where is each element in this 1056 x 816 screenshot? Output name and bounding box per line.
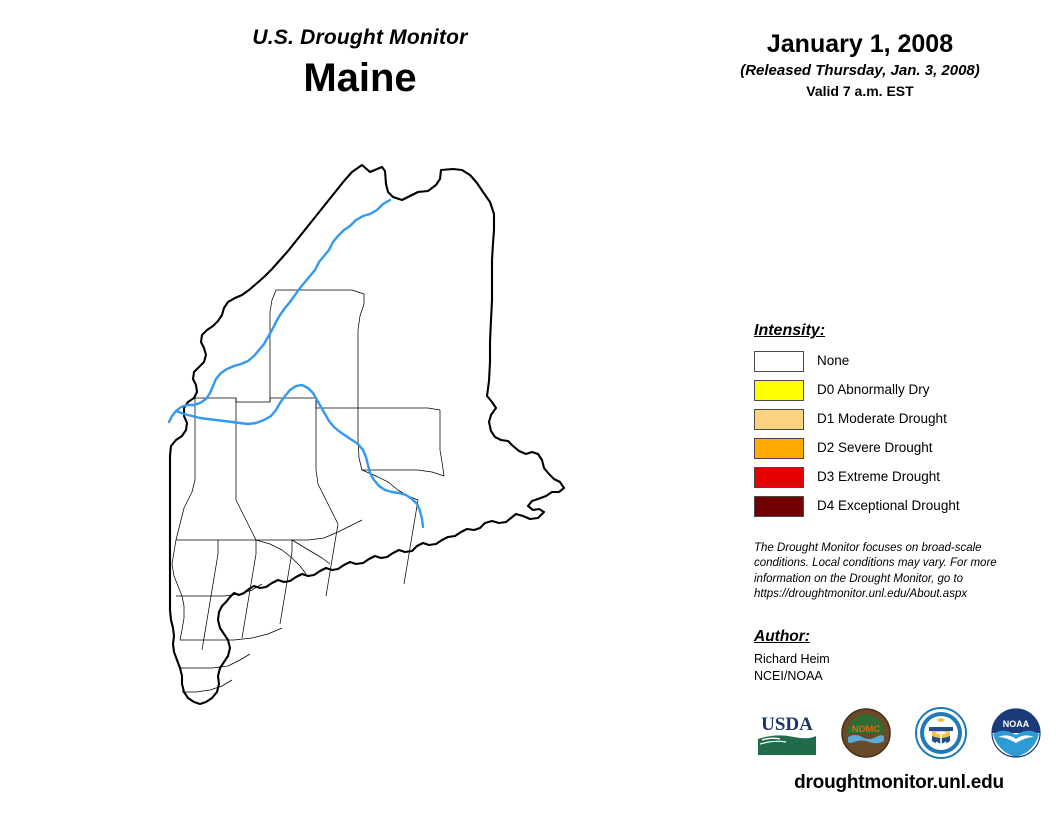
legend-item-d0: D0 Abnormally Dry [754,378,1034,402]
author-block: Author: Richard Heim NCEI/NOAA [754,628,1014,685]
legend-swatch-d1 [754,409,804,430]
legend-swatch-d3 [754,467,804,488]
drought-monitor-page: U.S. Drought Monitor Maine January 1, 20… [0,0,1056,816]
legend-item-none: None [754,349,1034,373]
legend-label-d4: D4 Exceptional Drought [817,499,960,513]
usda-logo: USDA [756,709,818,757]
ndmc-logo-text: NDMC [852,724,881,735]
author-name: Richard Heim [754,651,1014,668]
legend-swatch-d4 [754,496,804,517]
usda-logo-text: USDA [761,714,813,735]
legend-item-d1: D1 Moderate Drought [754,407,1034,431]
usda-seal-logo [915,707,967,759]
release-date: (Released Thursday, Jan. 3, 2008) [690,62,1030,80]
map-layers [169,165,564,704]
site-url[interactable]: droughtmonitor.unl.edu [754,772,1044,794]
author-heading: Author: [754,628,1014,646]
map-svg [140,140,610,780]
title-block: U.S. Drought Monitor Maine [150,26,570,101]
valid-time: Valid 7 a.m. EST [690,83,1030,100]
ndmc-logo: NDMC [841,708,891,758]
noaa-logo: NOAA [990,707,1042,759]
legend-label-d1: D1 Moderate Drought [817,412,947,426]
state-outline-maine [170,165,564,704]
maine-map [140,140,610,780]
page-title: U.S. Drought Monitor [150,26,570,49]
logo-row: USDA NDMC [756,703,1042,763]
legend-swatch-none [754,351,804,372]
legend-label-d0: D0 Abnormally Dry [817,383,930,397]
legend-item-d2: D2 Severe Drought [754,436,1034,460]
legend: Intensity: None D0 Abnormally Dry D1 Mod… [754,322,1034,523]
legend-swatch-d2 [754,438,804,459]
date-block: January 1, 2008 (Released Thursday, Jan.… [690,30,1030,100]
map-date: January 1, 2008 [690,30,1030,59]
author-affiliation: NCEI/NOAA [754,668,1014,685]
state-title: Maine [150,55,570,101]
legend-title: Intensity: [754,322,1034,340]
legend-item-d4: D4 Exceptional Drought [754,494,1034,518]
disclaimer-text: The Drought Monitor focuses on broad-sca… [754,541,1029,602]
legend-label-d3: D3 Extreme Drought [817,470,940,484]
legend-label-none: None [817,354,849,368]
legend-swatch-d0 [754,380,804,401]
legend-item-d3: D3 Extreme Drought [754,465,1034,489]
noaa-logo-text: NOAA [1003,719,1030,729]
legend-label-d2: D2 Severe Drought [817,441,933,455]
